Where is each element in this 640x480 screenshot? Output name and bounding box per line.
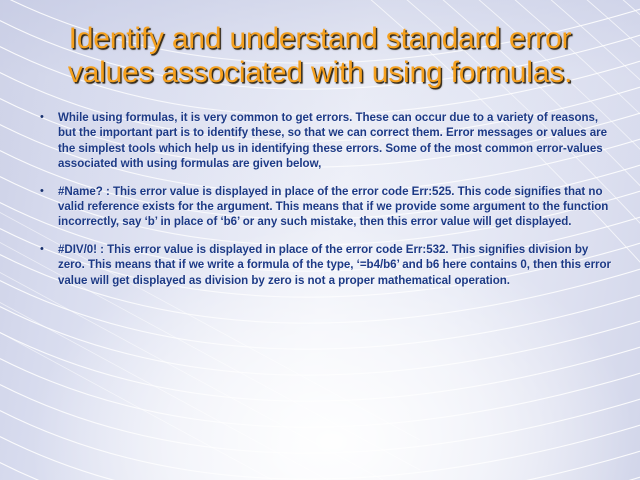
slide-title: Identify and understand standard error v…: [26, 22, 614, 90]
bullet-point-icon: •: [34, 110, 58, 125]
bullet-item-name-error: • #Name? : This error value is displayed…: [34, 184, 618, 230]
slide-body: • While using formulas, it is very commo…: [34, 110, 618, 300]
bullet-item-div-zero-error: • #DIV/0! : This error value is displaye…: [34, 242, 618, 288]
bullet-text-div-zero-error: #DIV/0! : This error value is displayed …: [58, 242, 618, 288]
bullet-point-icon: •: [34, 184, 58, 199]
slide-title-text: Identify and understand standard error v…: [26, 22, 614, 90]
presentation-slide: Identify and understand standard error v…: [0, 0, 640, 480]
bullet-item-intro: • While using formulas, it is very commo…: [34, 110, 618, 172]
bullet-point-icon: •: [34, 242, 58, 257]
bullet-text-intro: While using formulas, it is very common …: [58, 110, 618, 172]
bullet-text-name-error: #Name? : This error value is displayed i…: [58, 184, 618, 230]
